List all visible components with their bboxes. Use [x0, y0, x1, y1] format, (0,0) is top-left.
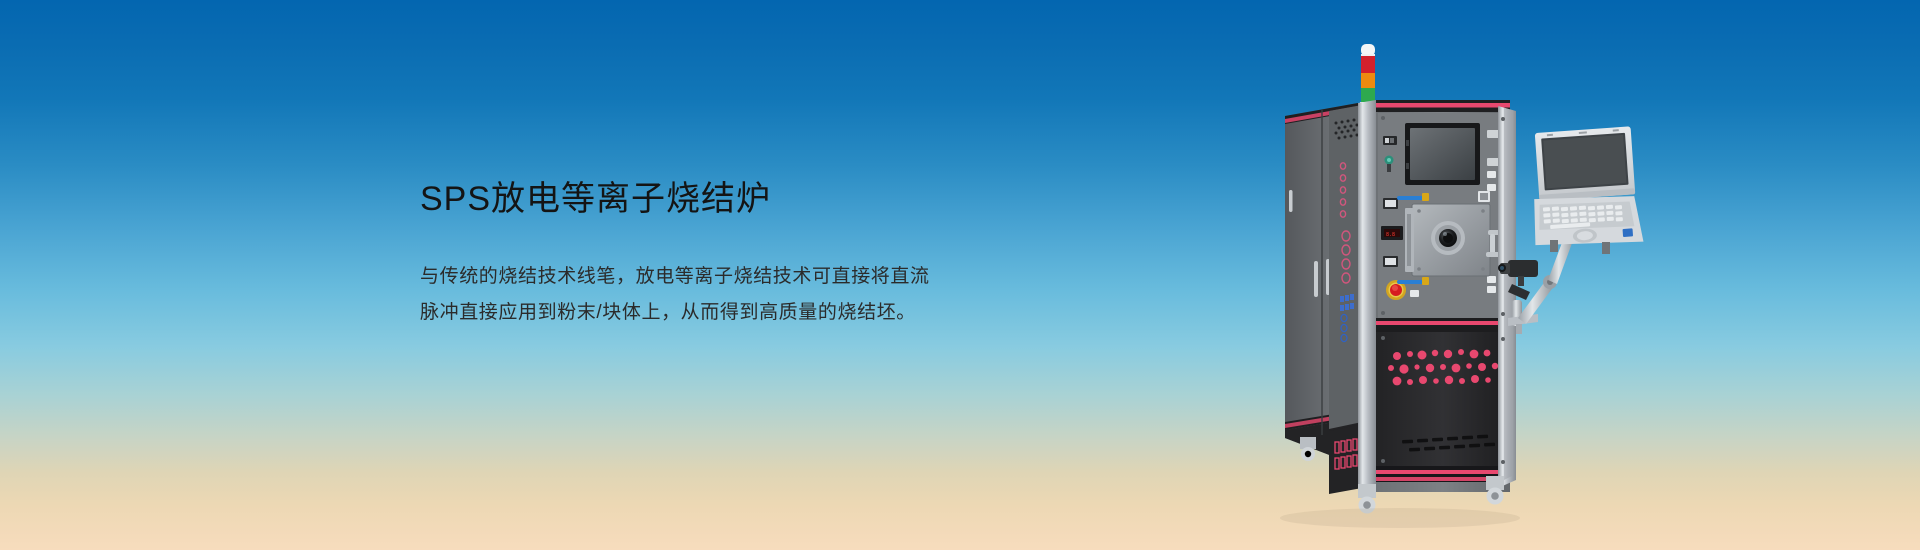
ground-shadow: [1280, 508, 1520, 528]
mounted-laptop-computer[interactable]: [1532, 126, 1643, 254]
chamber-viewport-window: [1431, 221, 1465, 255]
page-title: SPS放电等离子烧结炉: [420, 178, 1120, 221]
svg-text:8.8: 8.8: [1386, 232, 1395, 238]
tower-light-amber: [1361, 73, 1375, 88]
banner-text-block: SPS放电等离子烧结炉 与传统的烧结技术线笔，放电等离子烧结技术可直接将直流 脉…: [420, 178, 1120, 331]
frame-extrusion-left: [1358, 100, 1376, 492]
cabinet-handle-left: [1314, 261, 1318, 297]
description-line-1: 与传统的烧结技术线笔，放电等离子烧结技术可直接将直流: [420, 259, 1120, 295]
hmi-screen-display: [1410, 128, 1475, 180]
side-connector-panel: [1329, 105, 1362, 494]
tower-light-red: [1361, 56, 1375, 73]
description-line-2: 脉冲直接应用到粉末/块体上，从而得到高质量的烧结坯。: [420, 295, 1120, 331]
hero-banner: SPS放电等离子烧结炉 与传统的烧结技术线笔，放电等离子烧结技术可直接将直流 脉…: [0, 0, 1920, 550]
trim-stripe-top: [1376, 103, 1510, 108]
trim-stripe-mid: [1376, 321, 1510, 325]
hmi-touch-screen[interactable]: [1405, 123, 1480, 185]
vacuum-chamber-door[interactable]: [1405, 204, 1502, 276]
product-image-sps-furnace: 8.8: [1250, 18, 1680, 550]
laptop-badge: [1623, 228, 1634, 237]
trim-stripe-bottom: [1376, 470, 1510, 474]
